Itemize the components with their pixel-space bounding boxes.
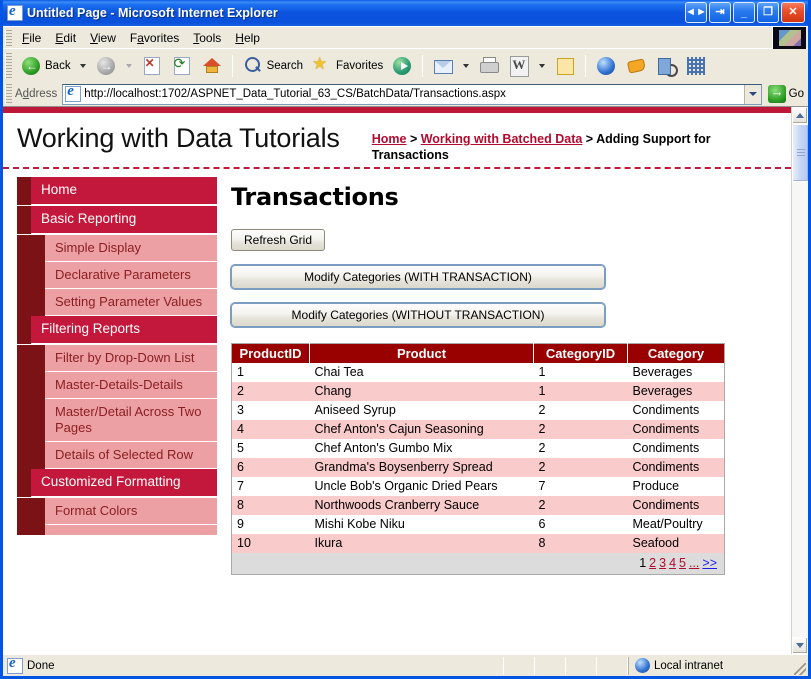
- cell-categoryid: 2: [534, 458, 628, 477]
- sidebar-accent-tab: [17, 469, 31, 497]
- title-bar: Untitled Page - Microsoft Internet Explo…: [3, 0, 808, 26]
- cell-categoryid: 1: [534, 363, 628, 382]
- mail-button[interactable]: [428, 52, 458, 80]
- edit-word-button[interactable]: [504, 52, 534, 80]
- cell-productid: 4: [232, 420, 310, 439]
- web-inspector-button[interactable]: [651, 52, 681, 80]
- table-row: 10 Ikura 8 Seafood: [232, 534, 725, 553]
- address-label: Address: [15, 88, 57, 100]
- sidebar-accent-tab: [17, 289, 45, 316]
- printer-icon: [478, 55, 500, 77]
- cell-categoryid: 2: [534, 420, 628, 439]
- cell-categoryid: 2: [534, 439, 628, 458]
- breadcrumb-link-home[interactable]: Home: [372, 132, 407, 146]
- pager-page-5[interactable]: 5: [679, 556, 686, 570]
- close-icon: ✕: [782, 3, 804, 22]
- forward-button[interactable]: →: [91, 52, 121, 80]
- cell-product: Chang: [310, 382, 534, 401]
- grid-header-row: ProductID Product CategoryID Category: [232, 344, 725, 364]
- cell-product: Chai Tea: [310, 363, 534, 382]
- sidebar-item-master-detail-across-two-pages[interactable]: Master/Detail Across Two Pages: [17, 399, 217, 442]
- grid-pager: 12345...>>: [232, 553, 725, 575]
- modify-categories-with-transaction-button[interactable]: Modify Categories (WITH TRANSACTION): [231, 265, 605, 289]
- status-bar: Done Local intranet: [3, 654, 808, 676]
- sidebar-item-partial[interactable]: [17, 525, 217, 535]
- browse-web-button[interactable]: [591, 52, 621, 80]
- menu-help[interactable]: Help: [228, 29, 267, 47]
- column-header-productid[interactable]: ProductID: [232, 344, 310, 364]
- back-button-label: Back: [45, 60, 71, 72]
- ie-document-icon: [7, 5, 23, 21]
- menu-tools[interactable]: Tools: [186, 29, 228, 47]
- stop-icon: [141, 55, 163, 77]
- cell-categoryid: 8: [534, 534, 628, 553]
- menu-file[interactable]: File: [15, 29, 48, 47]
- exit-icon: ⇥: [710, 3, 730, 22]
- sidebar-item-label: Basic Reporting: [31, 206, 217, 234]
- cell-category: Condiments: [628, 439, 725, 458]
- menu-bar: File Edit View Favorites Tools Help: [3, 26, 808, 48]
- menubar-drag-handle[interactable]: [5, 30, 12, 46]
- table-row: 7 Uncle Bob's Organic Dried Pears 7 Prod…: [232, 477, 725, 496]
- messenger-icon: [625, 55, 647, 77]
- security-zone-label: Local intranet: [654, 660, 723, 672]
- browser-viewport: Working with Data Tutorials Home > Worki…: [3, 106, 808, 654]
- column-header-category[interactable]: Category: [628, 344, 725, 364]
- cell-product: Uncle Bob's Organic Dried Pears: [310, 477, 534, 496]
- sidebar-item-format-colors[interactable]: Format Colors: [17, 498, 217, 525]
- note-icon: [554, 55, 576, 77]
- status-pane-divider: [534, 657, 535, 675]
- scrollbar-track[interactable]: [792, 124, 808, 637]
- table-row: 2 Chang 1 Beverages: [232, 382, 725, 401]
- go-button-label: Go: [789, 88, 804, 100]
- pager-ellipsis[interactable]: ...: [689, 556, 699, 570]
- cell-productid: 7: [232, 477, 310, 496]
- scrollbar-thumb[interactable]: [792, 124, 808, 182]
- page-favicon-icon: [65, 86, 81, 102]
- print-button[interactable]: [474, 52, 504, 80]
- cell-category: Condiments: [628, 496, 725, 515]
- sidebar-accent-tab: [17, 525, 45, 535]
- favorites-button-label: Favorites: [336, 60, 383, 72]
- cell-product: Northwoods Cranberry Sauce: [310, 496, 534, 515]
- cell-product: Grandma's Boysenberry Spread: [310, 458, 534, 477]
- globe-icon: [595, 55, 617, 77]
- table-row: 6 Grandma's Boysenberry Spread 2 Condime…: [232, 458, 725, 477]
- sidebar-item-customized-formatting[interactable]: Customized Formatting: [17, 469, 217, 497]
- toolbar-separator-2: [422, 55, 423, 77]
- sidebar-item-label: Master/Detail Across Two Pages: [45, 399, 217, 442]
- messenger-button[interactable]: [621, 52, 651, 80]
- pager-next-button[interactable]: >>: [702, 556, 717, 570]
- cell-category: Produce: [628, 477, 725, 496]
- restore-group-button[interactable]: ◄►: [685, 2, 707, 23]
- security-zone[interactable]: Local intranet: [628, 657, 808, 675]
- sidebar-item-label: [45, 525, 217, 535]
- page-body: Home Basic Reporting Simple Display Decl…: [3, 169, 791, 575]
- cell-productid: 5: [232, 439, 310, 458]
- forward-history-dropdown-icon[interactable]: [126, 64, 132, 68]
- sidebar-item-label: Filtering Reports: [31, 316, 217, 344]
- address-dropdown-button[interactable]: [744, 85, 761, 104]
- sidebar-item-label: Setting Parameter Values: [45, 289, 217, 316]
- sidebar-item-label: Details of Selected Row: [45, 442, 217, 469]
- table-row: 1 Chai Tea 1 Beverages: [232, 363, 725, 382]
- go-button[interactable]: Go: [764, 85, 808, 103]
- back-button[interactable]: ← Back: [16, 52, 75, 80]
- media-icon: [391, 55, 413, 77]
- sidebar-accent-tab: [17, 498, 45, 525]
- maximize-icon: ❐: [758, 3, 778, 22]
- page-title: Transactions: [231, 183, 777, 211]
- status-pane-divider: [565, 657, 566, 675]
- navigation-toolbar: ← Back → Search Favorites: [3, 48, 808, 82]
- grid-pager-row: 12345...>>: [232, 553, 725, 575]
- minimize-button[interactable]: _: [733, 2, 755, 23]
- cell-product: Chef Anton's Cajun Seasoning: [310, 420, 534, 439]
- scroll-up-button[interactable]: [792, 107, 808, 124]
- sidebar-item-label: Home: [31, 177, 217, 205]
- status-pane-divider: [503, 657, 504, 675]
- globe-icon: [635, 658, 650, 673]
- search-button[interactable]: Search: [238, 52, 307, 80]
- window-controls: ◄► ⇥ _ ❐ ✕: [685, 2, 805, 23]
- sidebar-accent-tab: [17, 262, 45, 289]
- sidebar-item-label: Format Colors: [45, 498, 217, 525]
- table-row: 8 Northwoods Cranberry Sauce 2 Condiment…: [232, 496, 725, 515]
- refresh-grid-button[interactable]: Refresh Grid: [231, 229, 325, 251]
- cell-productid: 9: [232, 515, 310, 534]
- chevron-up-icon: [796, 113, 804, 118]
- sidebar-accent-tab: [17, 177, 31, 205]
- refresh-button[interactable]: [167, 52, 197, 80]
- sidebar-item-home[interactable]: Home: [17, 177, 217, 205]
- cell-category: Seafood: [628, 534, 725, 553]
- sidebar-item-basic-reporting[interactable]: Basic Reporting: [17, 206, 217, 234]
- sidebar-accent-tab: [17, 316, 31, 344]
- edit-dropdown-icon[interactable]: [539, 64, 545, 68]
- back-arrow-icon: ←: [20, 55, 42, 77]
- breadcrumb-separator-1: >: [406, 132, 420, 146]
- main-content: Transactions Refresh Grid Modify Categor…: [217, 169, 791, 575]
- vertical-scrollbar[interactable]: [791, 107, 808, 654]
- cell-productid: 8: [232, 496, 310, 515]
- sidebar-accent-tab: [17, 235, 45, 262]
- cell-category: Beverages: [628, 363, 725, 382]
- page-header: Working with Data Tutorials Home > Worki…: [3, 113, 791, 169]
- menu-edit[interactable]: Edit: [48, 29, 83, 47]
- sidebar-item-simple-display[interactable]: Simple Display: [17, 235, 217, 262]
- inspect-icon: [655, 55, 677, 77]
- favorites-button[interactable]: Favorites: [307, 52, 387, 80]
- chevron-down-icon: [796, 643, 804, 648]
- sidebar-item-label: Declarative Parameters: [45, 262, 217, 289]
- web-page: Working with Data Tutorials Home > Worki…: [3, 107, 791, 654]
- cell-categoryid: 6: [534, 515, 628, 534]
- refresh-icon: [171, 55, 193, 77]
- cell-productid: 2: [232, 382, 310, 401]
- sidebar-item-details-of-selected-row[interactable]: Details of Selected Row: [17, 442, 217, 469]
- products-grid: ProductID Product CategoryID Category 1 …: [231, 343, 725, 575]
- sidebar-item-label: Simple Display: [45, 235, 217, 262]
- toolbar-separator: [232, 55, 233, 77]
- toolbar-separator-3: [585, 55, 586, 77]
- sidebar-accent-tab: [17, 372, 45, 399]
- cell-categoryid: 2: [534, 496, 628, 515]
- window-title: Untitled Page - Microsoft Internet Explo…: [27, 6, 278, 20]
- maximize-button[interactable]: ❐: [757, 2, 779, 23]
- minimize-icon: _: [734, 3, 754, 22]
- address-input[interactable]: http://localhost:1702/ASPNET_Data_Tutori…: [62, 84, 761, 105]
- pager-page-4[interactable]: 4: [669, 556, 676, 570]
- mail-dropdown-icon[interactable]: [463, 64, 469, 68]
- menu-view[interactable]: View: [83, 29, 123, 47]
- sidebar-item-filtering-reports[interactable]: Filtering Reports: [17, 316, 217, 344]
- table-row: 9 Mishi Kobe Niku 6 Meat/Poultry: [232, 515, 725, 534]
- pager-page-3[interactable]: 3: [659, 556, 666, 570]
- cell-category: Condiments: [628, 420, 725, 439]
- sidebar-item-master-details-details[interactable]: Master-Details-Details: [17, 372, 217, 399]
- exit-button[interactable]: ⇥: [709, 2, 731, 23]
- cell-productid: 10: [232, 534, 310, 553]
- ie-brand-logo: [772, 27, 806, 49]
- home-button[interactable]: [197, 52, 227, 80]
- forward-arrow-icon: →: [95, 55, 117, 77]
- cell-productid: 3: [232, 401, 310, 420]
- cell-category: Condiments: [628, 401, 725, 420]
- cell-categoryid: 1: [534, 382, 628, 401]
- sidebar-item-setting-parameter-values[interactable]: Setting Parameter Values: [17, 289, 217, 316]
- scroll-down-button[interactable]: [792, 637, 808, 654]
- media-button[interactable]: [387, 52, 417, 80]
- table-row: 5 Chef Anton's Gumbo Mix 2 Condiments: [232, 439, 725, 458]
- word-icon: [508, 55, 530, 77]
- cell-product: Aniseed Syrup: [310, 401, 534, 420]
- addressbar-drag-handle[interactable]: [5, 84, 12, 104]
- table-row: 4 Chef Anton's Cajun Seasoning 2 Condime…: [232, 420, 725, 439]
- menu-favorites[interactable]: Favorites: [123, 29, 186, 47]
- restore-group-icon: ◄►: [686, 3, 706, 22]
- address-url-text: http://localhost:1702/ASPNET_Data_Tutori…: [84, 88, 506, 100]
- cell-categoryid: 7: [534, 477, 628, 496]
- address-bar: Address http://localhost:1702/ASPNET_Dat…: [3, 82, 808, 106]
- go-arrow-icon: [768, 85, 786, 103]
- stop-button[interactable]: [137, 52, 167, 80]
- back-history-dropdown-icon[interactable]: [80, 64, 86, 68]
- encoding-icon: [685, 55, 707, 77]
- sidebar-item-label: Filter by Drop-Down List: [45, 345, 217, 372]
- sidebar-accent-tab: [17, 206, 31, 234]
- column-header-product[interactable]: Product: [310, 344, 534, 364]
- browser-window: Untitled Page - Microsoft Internet Explo…: [0, 0, 811, 679]
- home-icon: [201, 55, 223, 77]
- status-text: Done: [27, 660, 55, 672]
- site-title: Working with Data Tutorials: [17, 123, 340, 154]
- breadcrumb-separator-2: >: [582, 132, 596, 146]
- cell-productid: 1: [232, 363, 310, 382]
- toolbar-drag-handle[interactable]: [5, 53, 12, 79]
- star-icon: [311, 55, 333, 77]
- cell-product: Ikura: [310, 534, 534, 553]
- cell-product: Chef Anton's Gumbo Mix: [310, 439, 534, 458]
- sidebar-accent-tab: [17, 442, 45, 469]
- sidebar-item-label: Master-Details-Details: [45, 372, 217, 399]
- cell-category: Meat/Poultry: [628, 515, 725, 534]
- modify-categories-without-transaction-button[interactable]: Modify Categories (WITHOUT TRANSACTION): [231, 303, 605, 327]
- sidebar-item-filter-by-drop-down-list[interactable]: Filter by Drop-Down List: [17, 345, 217, 372]
- cell-category: Condiments: [628, 458, 725, 477]
- sidebar-accent-tab: [17, 345, 45, 372]
- mail-icon: [432, 55, 454, 77]
- status-page-icon: [7, 658, 23, 674]
- encoding-button[interactable]: [681, 52, 711, 80]
- search-icon: [242, 55, 264, 77]
- chevron-down-icon: [749, 92, 757, 96]
- sidebar-item-declarative-parameters[interactable]: Declarative Parameters: [17, 262, 217, 289]
- breadcrumb-link-batched-data[interactable]: Working with Batched Data: [421, 132, 583, 146]
- pager-page-2[interactable]: 2: [649, 556, 656, 570]
- resize-grip[interactable]: [794, 663, 806, 675]
- breadcrumb: Home > Working with Batched Data > Addin…: [372, 131, 712, 163]
- sidebar-nav: Home Basic Reporting Simple Display Decl…: [3, 169, 217, 535]
- cell-category: Beverages: [628, 382, 725, 401]
- column-header-categoryid[interactable]: CategoryID: [534, 344, 628, 364]
- close-button[interactable]: ✕: [781, 2, 805, 23]
- cell-categoryid: 2: [534, 401, 628, 420]
- status-pane-divider: [596, 657, 597, 675]
- search-button-label: Search: [267, 60, 303, 72]
- sidebar-item-label: Customized Formatting: [31, 469, 217, 497]
- table-row: 3 Aniseed Syrup 2 Condiments: [232, 401, 725, 420]
- notes-button[interactable]: [550, 52, 580, 80]
- pager-current-page: 1: [639, 556, 646, 570]
- cell-product: Mishi Kobe Niku: [310, 515, 534, 534]
- sidebar-accent-tab: [17, 399, 45, 442]
- cell-productid: 6: [232, 458, 310, 477]
